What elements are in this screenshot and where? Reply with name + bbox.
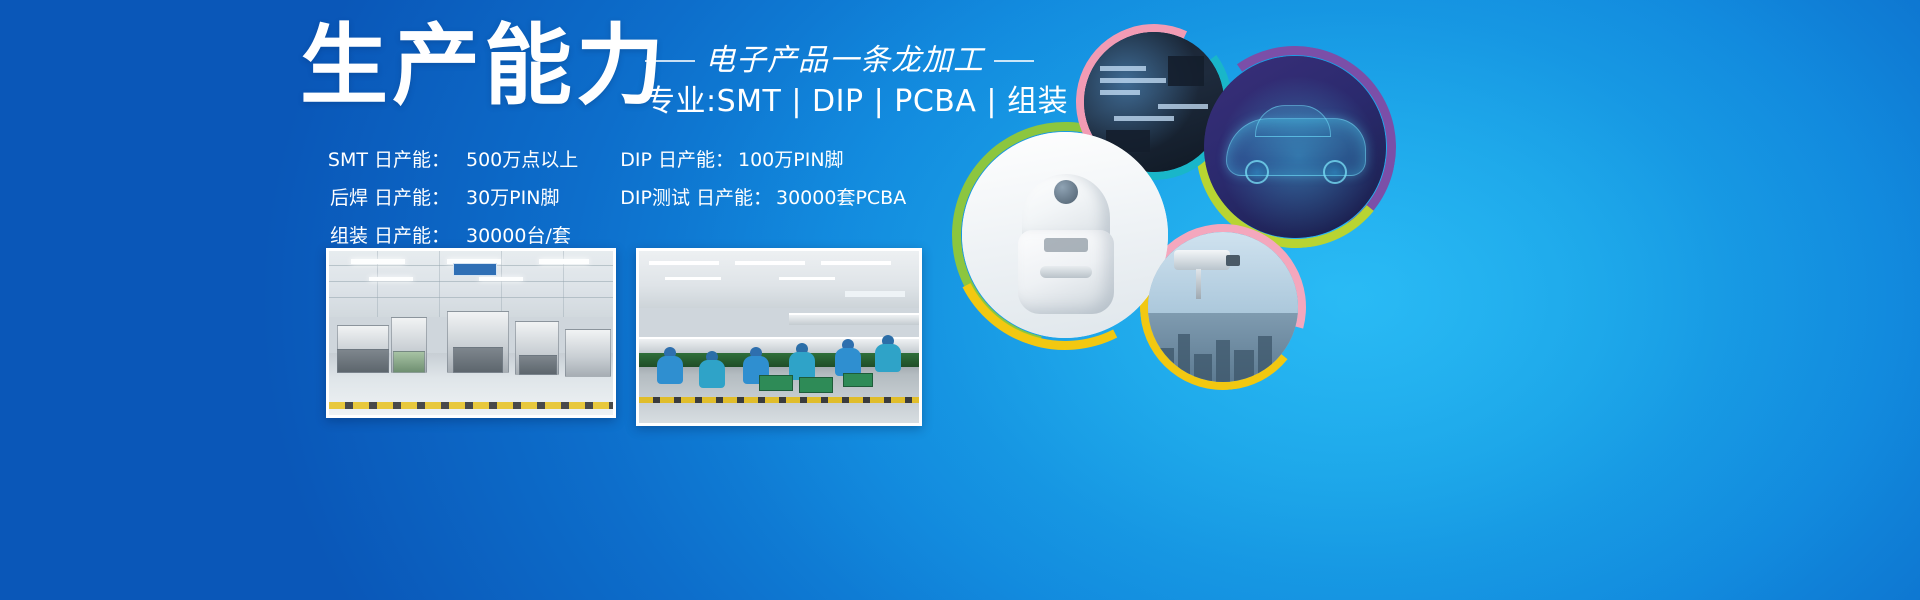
car-silhouette-icon <box>1226 118 1366 176</box>
spec-value: 30万PIN脚 <box>466 183 559 210</box>
component-tray <box>843 373 873 387</box>
work-bench <box>789 313 919 325</box>
floor-hazard-stripe <box>639 397 919 403</box>
machine <box>565 329 611 377</box>
spec-column-left: SMT 日产能： 500万点以上 后焊 日产能： 30万PIN脚 组装 日产能：… <box>322 145 578 259</box>
capacity-specs: SMT 日产能： 500万点以上 后焊 日产能： 30万PIN脚 组装 日产能：… <box>322 145 906 259</box>
smart-car-thumb <box>1204 56 1386 238</box>
machine <box>453 347 503 373</box>
worker <box>657 347 683 383</box>
dash-left-icon <box>645 60 695 62</box>
production-capacity-banner: 生产能力 电子产品一条龙加工 专业:SMT | DIP | PCBA | 组装 … <box>0 0 1920 600</box>
worker <box>699 351 725 387</box>
security-camera-thumb <box>1148 232 1298 382</box>
spec-row: SMT 日产能： 500万点以上 <box>322 145 578 179</box>
spec-label: 后焊 日产能： <box>322 183 450 210</box>
spec-value: 500万点以上 <box>466 145 578 172</box>
worker <box>789 343 815 379</box>
spec-column-right: DIP 日产能： 100万PIN脚 DIP测试 日产能： 30000套PCBA <box>620 145 906 259</box>
spec-row: 后焊 日产能： 30万PIN脚 <box>322 183 578 217</box>
page-title: 生产能力 <box>300 18 668 114</box>
spec-row: DIP 日产能： 100万PIN脚 <box>620 145 906 179</box>
spec-label: 组装 日产能： <box>322 221 450 248</box>
machine <box>519 355 557 375</box>
floor-hazard-stripe <box>329 402 613 409</box>
security-camera-icon <box>1174 250 1240 276</box>
product-collage <box>952 20 1412 400</box>
worker <box>835 339 861 375</box>
machine <box>337 349 389 373</box>
machine <box>393 351 425 373</box>
spec-row: DIP测试 日产能： 30000套PCBA <box>620 183 906 217</box>
spec-value: 30000套PCBA <box>776 183 906 210</box>
assembly-line-photo <box>636 248 922 426</box>
ceiling-area <box>329 251 613 317</box>
smt-workshop-photo <box>326 248 616 418</box>
spec-label: SMT 日产能： <box>322 145 450 172</box>
component-tray <box>759 375 793 391</box>
spec-value: 100万PIN脚 <box>738 145 844 172</box>
air-fryer-thumb <box>962 132 1168 338</box>
spec-label: DIP测试 日产能： <box>620 183 772 210</box>
hanging-sign <box>453 263 497 276</box>
worker <box>875 335 901 371</box>
subtitle-text: 电子产品一条龙加工 <box>705 44 984 78</box>
air-fryer-icon <box>1014 174 1118 314</box>
ceiling-area <box>639 251 919 308</box>
spec-label: DIP 日产能： <box>620 145 734 172</box>
spec-value: 30000台/套 <box>466 221 571 248</box>
component-tray <box>799 377 833 393</box>
